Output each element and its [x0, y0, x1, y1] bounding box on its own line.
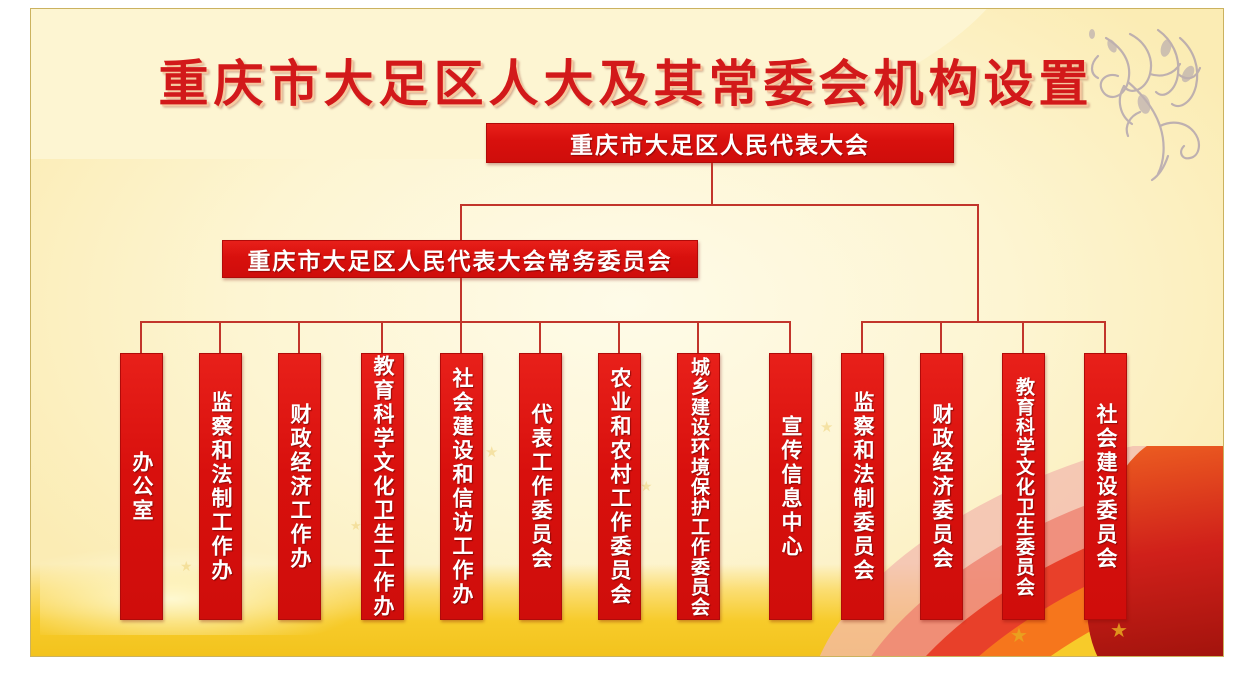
connector-to-standing: [460, 204, 462, 240]
node-urban-rural-construction-environment-work-committee-label: 城乡建设环境保护工作委员会: [689, 357, 708, 617]
connector-drop-11: [940, 321, 942, 354]
node-agriculture-rural-work-committee-label: 农业和农村工作委员会: [609, 367, 630, 607]
connector-to-right-group: [977, 204, 979, 322]
node-supervision-legal-committee-label: 监察和法制委员会: [852, 391, 873, 583]
node-deputy-work-committee-label: 代表工作委员会: [530, 403, 551, 571]
connector-drop-7: [618, 321, 620, 354]
node-urban-rural-construction-environment-work-committee[interactable]: 城乡建设环境保护工作委员会: [677, 353, 720, 620]
connector-root-bus: [460, 204, 979, 206]
node-publicity-information-center-label: 宣传信息中心: [780, 415, 801, 559]
node-finance-economy-committee-label: 财政经济委员会: [931, 403, 952, 571]
node-education-science-culture-health-committee-label: 教育科学文化卫生委员会: [1014, 377, 1033, 597]
node-social-construction-committee-label: 社会建设委员会: [1095, 403, 1116, 571]
connector-drop-10: [861, 321, 863, 354]
node-education-science-culture-health-committee[interactable]: 教育科学文化卫生委员会: [1002, 353, 1045, 620]
connector-drop-8: [697, 321, 699, 354]
connector-drop-1: [140, 321, 142, 354]
node-root-label: 重庆市大足区人民代表大会: [570, 126, 870, 160]
node-agriculture-rural-work-committee[interactable]: 农业和农村工作委员会: [598, 353, 641, 620]
connector-drop-5: [460, 321, 462, 354]
node-standing-committee-label: 重庆市大足区人民代表大会常务委员会: [248, 242, 673, 276]
node-standing-committee[interactable]: 重庆市大足区人民代表大会常务委员会: [222, 240, 698, 278]
node-root[interactable]: 重庆市大足区人民代表大会: [486, 123, 954, 163]
node-education-science-culture-health-work-office-label: 教育科学文化卫生工作办: [372, 355, 393, 619]
node-social-construction-committee[interactable]: 社会建设委员会: [1084, 353, 1127, 620]
connector-drop-2: [219, 321, 221, 354]
connector-right-group-bus: [861, 321, 1105, 323]
org-chart: 重庆市大足区人民代表大会 重庆市大足区人民代表大会常务委员会 办: [0, 0, 1252, 675]
node-finance-economy-committee[interactable]: 财政经济委员会: [920, 353, 963, 620]
connector-standing-down: [460, 278, 462, 322]
connector-root-down: [711, 163, 713, 205]
node-social-construction-petition-work-office-label: 社会建设和信访工作办: [451, 367, 472, 607]
node-office-label: 办公室: [131, 451, 152, 523]
connector-drop-3: [298, 321, 300, 354]
connector-drop-13: [1104, 321, 1106, 354]
org-chart-poster: ★ ★ ★ ★ ★ ★ ★ ★ ★ ★ ★ ★: [0, 0, 1252, 675]
node-deputy-work-committee[interactable]: 代表工作委员会: [519, 353, 562, 620]
node-finance-economy-work-office-label: 财政经济工作办: [289, 403, 310, 571]
node-supervision-legal-work-office[interactable]: 监察和法制工作办: [199, 353, 242, 620]
connector-drop-12: [1022, 321, 1024, 354]
node-publicity-information-center[interactable]: 宣传信息中心: [769, 353, 812, 620]
node-social-construction-petition-work-office[interactable]: 社会建设和信访工作办: [440, 353, 483, 620]
connector-drop-6: [539, 321, 541, 354]
node-supervision-legal-committee[interactable]: 监察和法制委员会: [841, 353, 884, 620]
node-office[interactable]: 办公室: [120, 353, 163, 620]
node-education-science-culture-health-work-office[interactable]: 教育科学文化卫生工作办: [361, 353, 404, 620]
node-supervision-legal-work-office-label: 监察和法制工作办: [210, 391, 231, 583]
connector-left-group-bus: [140, 321, 790, 323]
node-finance-economy-work-office[interactable]: 财政经济工作办: [278, 353, 321, 620]
connector-drop-4: [381, 321, 383, 354]
connector-drop-9: [789, 321, 791, 354]
